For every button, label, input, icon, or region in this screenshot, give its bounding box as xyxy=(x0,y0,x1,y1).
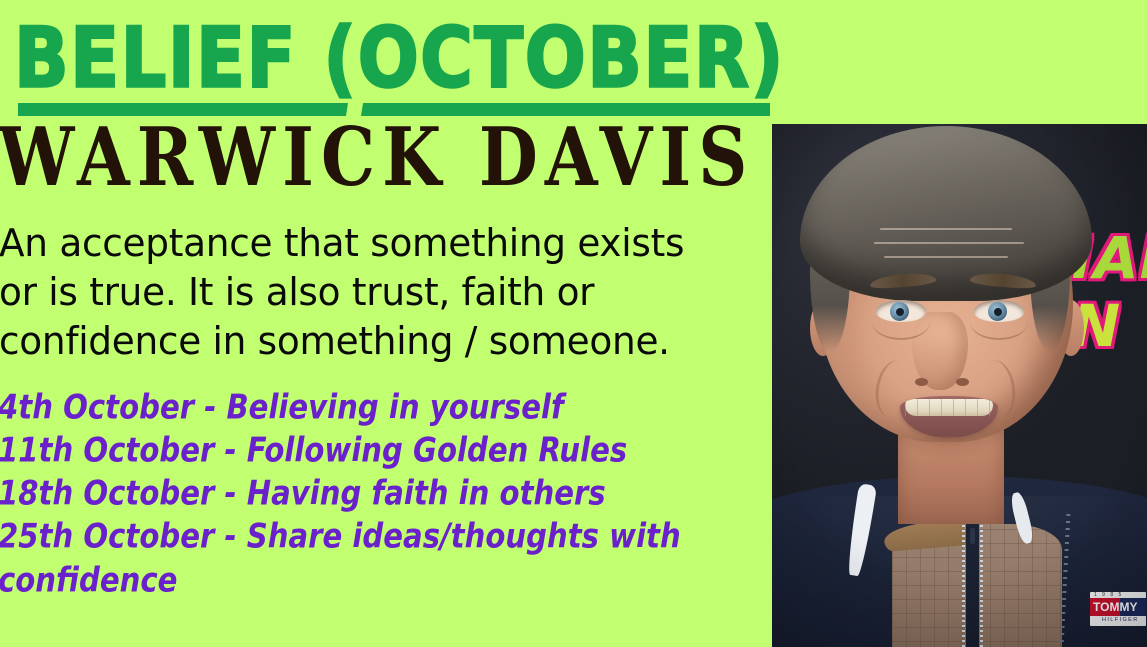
iris-left xyxy=(890,302,909,321)
schedule-item-2: 11th October - Following Golden Rules xyxy=(0,428,741,474)
title-block: BELIEF (OCTOBER) xyxy=(14,17,774,112)
forehead-line-3 xyxy=(884,256,1008,258)
quarter-zip xyxy=(966,520,979,647)
text-column: BELIEF (OCTOBER) WARWICK DAVIS An accept… xyxy=(0,0,790,647)
forehead-line-1 xyxy=(880,228,1012,230)
brand-patch-name: TOMMY xyxy=(1093,600,1137,614)
person-name: WARWICK DAVIS xyxy=(0,114,754,201)
schedule-item-4-wrap: confidence xyxy=(0,558,741,604)
teeth xyxy=(905,399,993,416)
definition-line-2: or is true. It is also trust, faith or xyxy=(0,268,777,317)
nostril-left xyxy=(915,378,928,386)
portrait-photo: MAD EN 1 9 8 5 TOMMY HILFIGER xyxy=(772,124,1147,647)
pupil-left xyxy=(896,308,904,316)
zip-seam-left xyxy=(962,520,965,647)
page-title: BELIEF (OCTOBER) xyxy=(14,17,751,100)
brand-patch-year: 1 9 8 5 xyxy=(1094,592,1123,598)
schedule-item-4: 25th October - Share ideas/thoughts with xyxy=(0,514,741,560)
schedule-item-1: 4th October - Believing in yourself xyxy=(0,385,741,431)
eye-right xyxy=(974,300,1024,322)
schedule-item-3: 18th October - Having faith in others xyxy=(0,471,741,517)
definition-line-1: An acceptance that something exists xyxy=(0,219,777,268)
forehead-line-2 xyxy=(874,242,1024,244)
iris-right xyxy=(988,302,1007,321)
nostril-right xyxy=(956,378,969,386)
chin-shadow xyxy=(896,436,1000,460)
zip-seam-right xyxy=(980,520,983,647)
definition-line-3: confidence in something / someone. xyxy=(0,317,777,366)
belief-october-poster: BELIEF (OCTOBER) WARWICK DAVIS An accept… xyxy=(0,0,1147,647)
schedule-list: 4th October - Believing in yourself 11th… xyxy=(0,385,788,601)
definition-text: An acceptance that something exists or i… xyxy=(0,219,777,366)
brand-patch-subtitle: HILFIGER xyxy=(1102,617,1139,623)
pupil-right xyxy=(994,308,1002,316)
brand-patch: 1 9 8 5 TOMMY HILFIGER xyxy=(1090,592,1146,626)
